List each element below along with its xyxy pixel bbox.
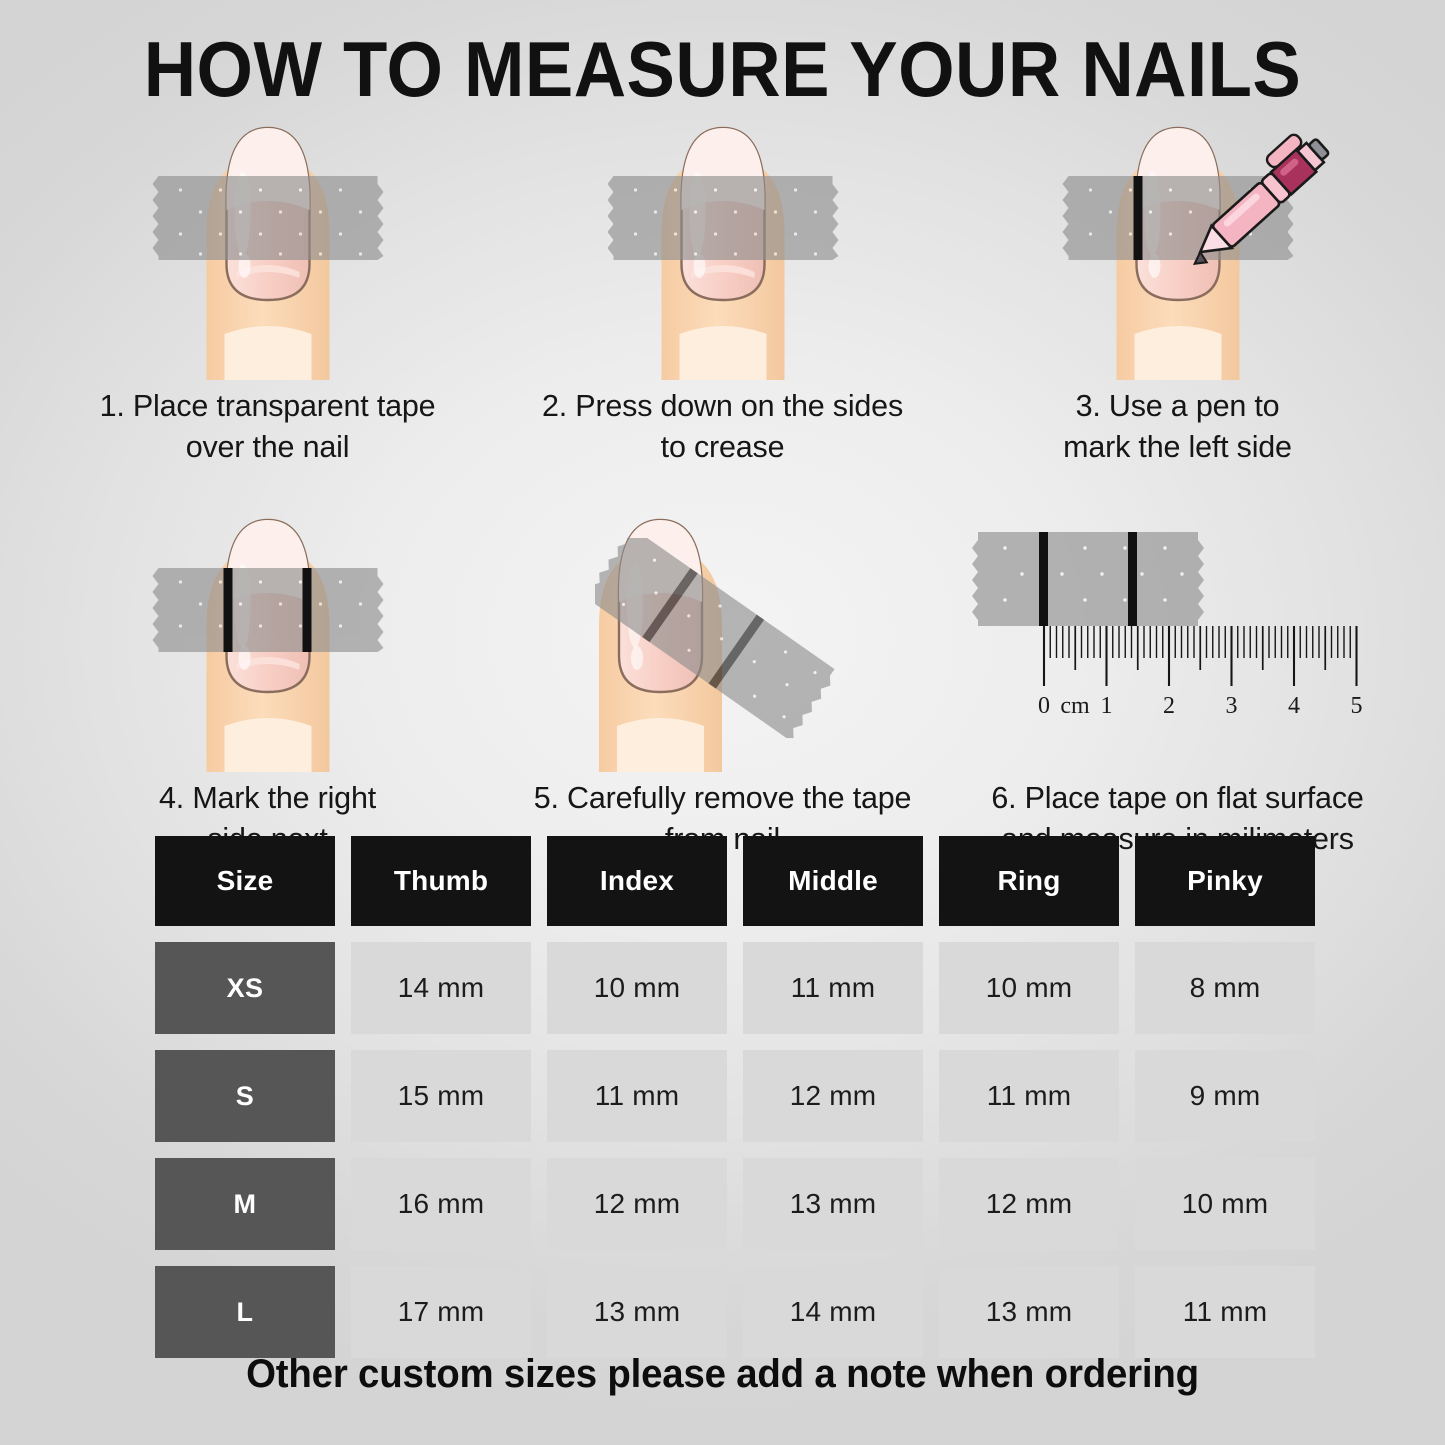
cell-thumb: 17 mm xyxy=(351,1266,531,1358)
step-6: 0 cm 1 2 3 4 5 6. Place tape on flat sur… xyxy=(950,510,1405,860)
cell-thumb: 15 mm xyxy=(351,1050,531,1142)
column-header-thumb: Thumb xyxy=(351,836,531,926)
tape-strip-icon xyxy=(150,174,385,262)
cell-middle: 11 mm xyxy=(743,942,923,1034)
table-row: S 15 mm 11 mm 12 mm 11 mm 9 mm xyxy=(155,1050,1323,1142)
table-row: M 16 mm 12 mm 13 mm 12 mm 10 mm xyxy=(155,1158,1323,1250)
pen-mark-left xyxy=(1133,176,1142,260)
size-label: XS xyxy=(155,942,335,1034)
ruler-label-0: 0 xyxy=(1038,693,1050,719)
step-1-caption: 1. Place transparent tape over the nail xyxy=(53,386,483,468)
ruler-label-4: 4 xyxy=(1288,693,1300,719)
ruler-label-3: 3 xyxy=(1226,693,1238,719)
size-label: L xyxy=(155,1266,335,1358)
ruler-label-cm: cm xyxy=(1060,693,1090,719)
footer-note: Other custom sizes please add a note whe… xyxy=(29,1352,1416,1397)
step-3-illustration xyxy=(950,118,1405,380)
step-2-illustration xyxy=(495,118,950,380)
cell-middle: 14 mm xyxy=(743,1266,923,1358)
step-3-caption: 3. Use a pen to mark the left side xyxy=(963,386,1393,468)
size-chart-table: Size Thumb Index Middle Ring Pinky XS 14… xyxy=(155,836,1323,1374)
step-6-illustration: 0 cm 1 2 3 4 5 xyxy=(950,510,1405,772)
cell-ring: 10 mm xyxy=(939,942,1119,1034)
cell-pinky: 9 mm xyxy=(1135,1050,1315,1142)
ruler-label-2: 2 xyxy=(1163,693,1175,719)
steps-row-top: 1. Place transparent tape over the nail xyxy=(40,118,1405,468)
step-1-illustration xyxy=(40,118,495,380)
step-2-caption: 2. Press down on the sides to crease xyxy=(508,386,938,468)
mark-right xyxy=(302,568,311,652)
pen-icon xyxy=(1173,120,1348,280)
cell-index: 13 mm xyxy=(547,1266,727,1358)
ruler-mark-left xyxy=(1039,532,1048,626)
cell-ring: 12 mm xyxy=(939,1158,1119,1250)
tape-strip-creased-icon xyxy=(605,174,840,262)
tape-strip-two-marks-icon xyxy=(150,566,385,654)
tape-on-ruler-icon: 0 cm 1 2 3 4 5 xyxy=(960,530,1380,735)
mark-left xyxy=(223,568,232,652)
table-header-row: Size Thumb Index Middle Ring Pinky xyxy=(155,836,1323,926)
step-1: 1. Place transparent tape over the nail xyxy=(40,118,495,468)
cell-pinky: 11 mm xyxy=(1135,1266,1315,1358)
step-4-illustration xyxy=(40,510,495,772)
size-label: M xyxy=(155,1158,335,1250)
steps-row-bottom: 4. Mark the right side next xyxy=(40,510,1405,860)
cell-middle: 13 mm xyxy=(743,1158,923,1250)
cell-pinky: 8 mm xyxy=(1135,942,1315,1034)
column-header-middle: Middle xyxy=(743,836,923,926)
cell-pinky: 10 mm xyxy=(1135,1158,1315,1250)
cell-ring: 11 mm xyxy=(939,1050,1119,1142)
ruler-labels: 0 cm 1 2 3 4 5 xyxy=(1038,693,1363,719)
ruler-ticks xyxy=(1044,626,1357,686)
table-row: XS 14 mm 10 mm 11 mm 10 mm 8 mm xyxy=(155,942,1323,1034)
cell-index: 11 mm xyxy=(547,1050,727,1142)
step-2: 2. Press down on the sides to crease xyxy=(495,118,950,468)
cell-ring: 13 mm xyxy=(939,1266,1119,1358)
column-header-index: Index xyxy=(547,836,727,926)
cell-middle: 12 mm xyxy=(743,1050,923,1142)
step-5-illustration xyxy=(495,510,950,772)
column-header-ring: Ring xyxy=(939,836,1119,926)
step-3: 3. Use a pen to mark the left side xyxy=(950,118,1405,468)
step-5: 5. Carefully remove the tape from nail xyxy=(495,510,950,860)
column-header-size: Size xyxy=(155,836,335,926)
size-label: S xyxy=(155,1050,335,1142)
page-title: HOW TO MEASURE YOUR NAILS xyxy=(51,24,1395,115)
ruler-mark-right xyxy=(1128,532,1137,626)
step-4: 4. Mark the right side next xyxy=(40,510,495,860)
cell-thumb: 14 mm xyxy=(351,942,531,1034)
steps-grid: 1. Place transparent tape over the nail xyxy=(40,118,1405,860)
cell-thumb: 16 mm xyxy=(351,1158,531,1250)
infographic-page: HOW TO MEASURE YOUR NAILS xyxy=(0,0,1445,1445)
ruler-label-1: 1 xyxy=(1101,693,1113,719)
cell-index: 10 mm xyxy=(547,942,727,1034)
table-row: L 17 mm 13 mm 14 mm 13 mm 11 mm xyxy=(155,1266,1323,1358)
cell-index: 12 mm xyxy=(547,1158,727,1250)
column-header-pinky: Pinky xyxy=(1135,836,1315,926)
ruler-label-5: 5 xyxy=(1351,693,1363,719)
tape-peeled-strip-icon xyxy=(595,538,925,753)
